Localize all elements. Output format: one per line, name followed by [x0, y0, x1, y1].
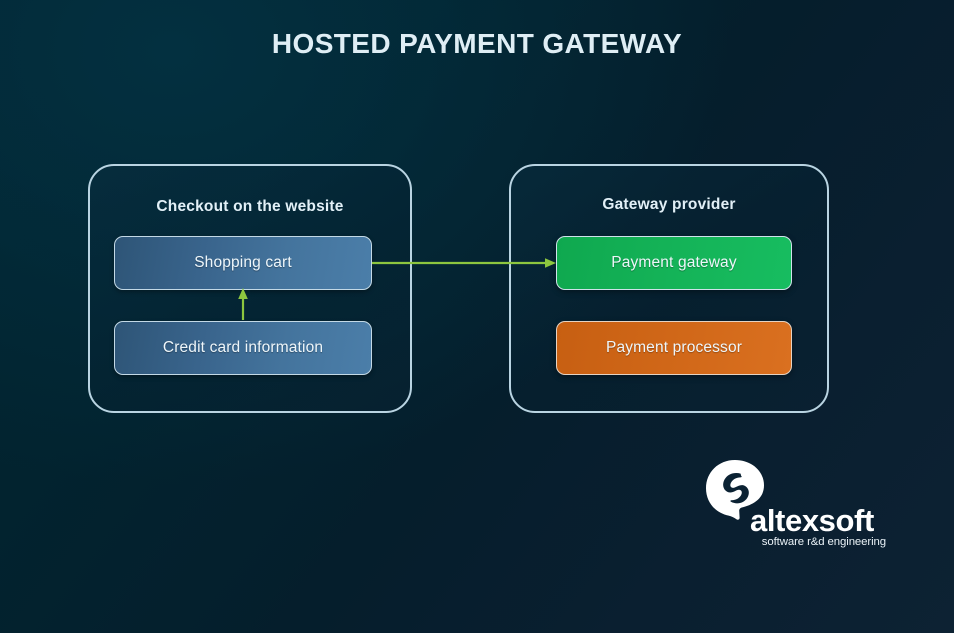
node-shopping-cart[interactable]: Shopping cart: [114, 236, 372, 290]
logo-wordmark: altexsoft: [750, 505, 886, 536]
group-title-gateway: Gateway provider: [511, 196, 827, 214]
node-payment-processor[interactable]: Payment processor: [556, 321, 792, 375]
diagram-canvas: HOSTED PAYMENT GATEWAY Checkout on the w…: [0, 0, 954, 633]
altexsoft-logo: altexsoft software r&d engineering: [700, 458, 886, 558]
node-credit-card-information[interactable]: Credit card information: [114, 321, 372, 375]
page-title: HOSTED PAYMENT GATEWAY: [0, 28, 954, 60]
node-payment-gateway[interactable]: Payment gateway: [556, 236, 792, 290]
logo-tagline: software r&d engineering: [750, 537, 886, 548]
group-title-checkout: Checkout on the website: [90, 198, 410, 216]
